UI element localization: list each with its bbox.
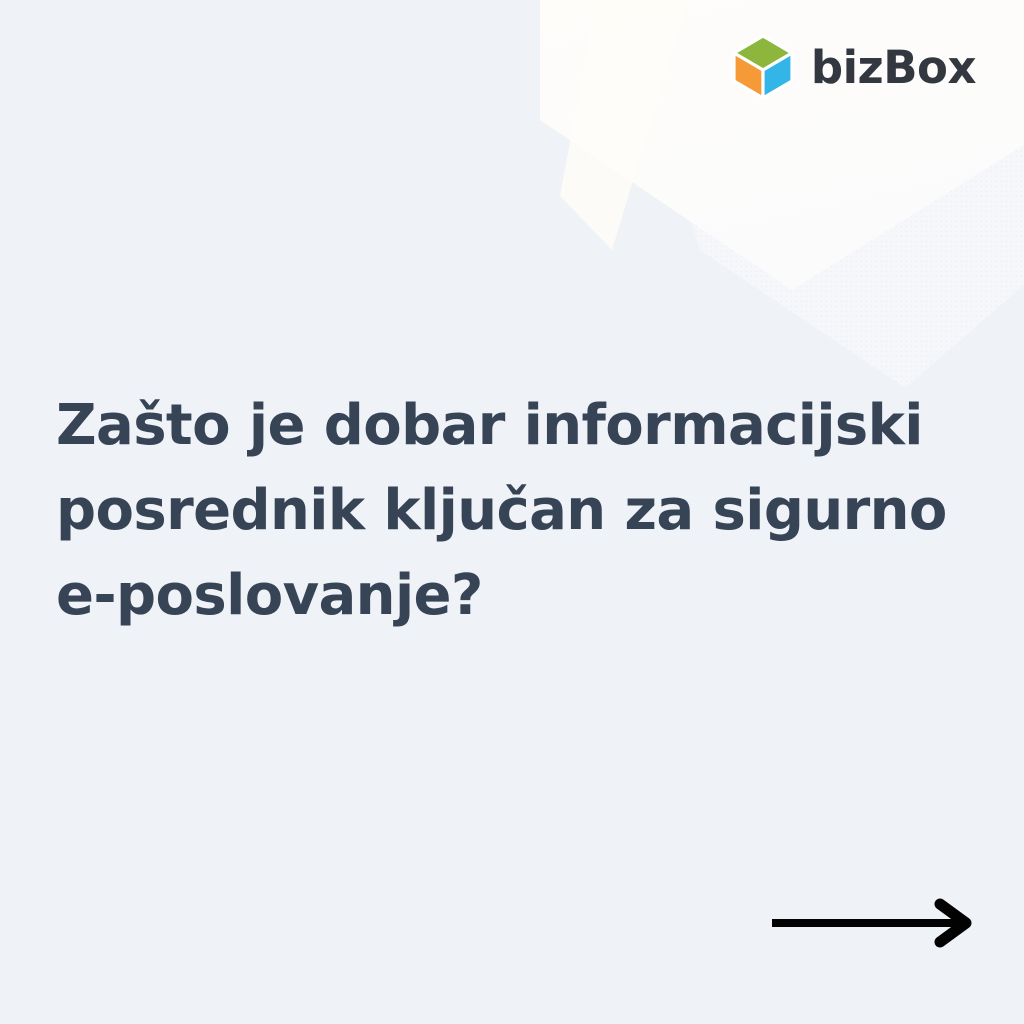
brand-wordmark: bizBox	[811, 45, 976, 90]
brand-logo-lockup[interactable]: bizBox	[729, 33, 976, 101]
headline-line-3: e-poslovanje?	[56, 553, 936, 638]
decor-shape-sheen	[560, 0, 700, 250]
swipe-next-arrow[interactable]	[768, 898, 976, 948]
social-card-canvas: bizBox Zašto je dobar informacijski posr…	[0, 0, 1024, 1024]
headline-line-1: Zašto je dobar informacijski	[56, 383, 936, 468]
arrow-right-icon	[768, 898, 976, 948]
bizbox-cube-logo-icon	[729, 33, 797, 101]
headline-line-2: posrednik ključan za sigurno	[56, 468, 936, 553]
headline: Zašto je dobar informacijski posrednik k…	[56, 383, 936, 638]
